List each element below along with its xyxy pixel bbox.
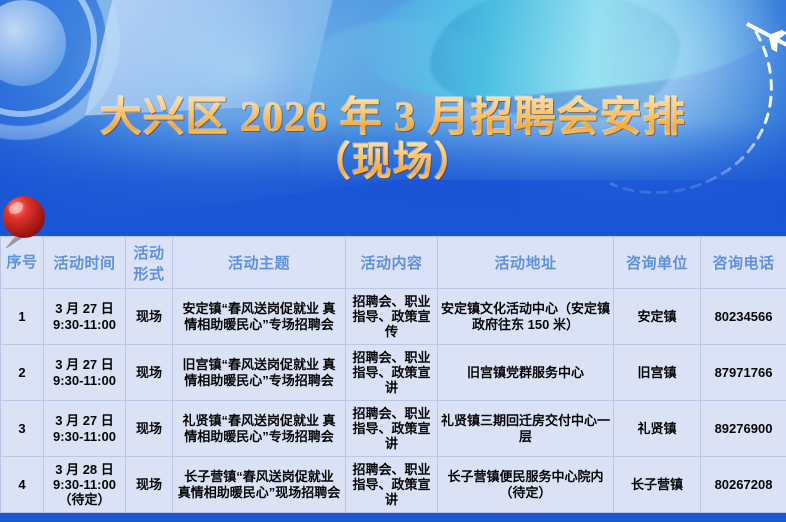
cell-form: 现场 [126,289,173,345]
column-header-theme: 活动主题 [173,237,346,289]
column-header-telephone: 咨询电话 [701,237,786,289]
cell-theme: 礼贤镇“春风送岗促就业 真情相助暖民心”专场招聘会 [173,401,346,457]
cell-address: 礼贤镇三期回迁房交付中心一层 [438,401,614,457]
cell-theme: 安定镇“春风送岗促就业 真情相助暖民心”专场招聘会 [173,289,346,345]
cell-telephone: 80234566 [701,289,786,345]
cell-telephone: 87971766 [701,345,786,401]
cell-index: 2 [1,345,44,401]
cell-unit: 安定镇 [614,289,701,345]
cell-time: 3 月 28 日 9:30-11:00 （待定） [44,457,126,513]
background-fade [0,120,786,236]
table-row: 4 3 月 28 日 9:30-11:00 （待定） 现场 长子营镇“春风送岗促… [1,457,786,513]
table-header-row: 序号 活动时间 活动形式 活动主题 活动内容 活动地址 咨询单位 咨询电话 [1,237,786,289]
cell-index: 1 [1,289,44,345]
poster-banner [0,0,786,236]
airplane-icon [742,14,786,60]
cell-content: 招聘会、职业指导、政策宣传 [346,289,438,345]
cell-form: 现场 [126,345,173,401]
cell-form: 现场 [126,401,173,457]
cell-address: 安定镇文化活动中心（安定镇政府往东 150 米） [438,289,614,345]
column-header-form: 活动形式 [126,237,173,289]
cell-index: 3 [1,401,44,457]
cell-content: 招聘会、职业指导、政策宣讲 [346,401,438,457]
column-header-time: 活动时间 [44,237,126,289]
cell-address: 长子营镇便民服务中心院内（待定） [438,457,614,513]
table-row: 3 3 月 27 日 9:30-11:00 现场 礼贤镇“春风送岗促就业 真情相… [1,401,786,457]
cell-time: 3 月 27 日 9:30-11:00 [44,401,126,457]
recruitment-schedule-table: 序号 活动时间 活动形式 活动主题 活动内容 活动地址 咨询单位 咨询电话 1 … [0,236,786,513]
cell-address: 旧宫镇党群服务中心 [438,345,614,401]
column-header-unit: 咨询单位 [614,237,701,289]
table-row: 1 3 月 27 日 9:30-11:00 现场 安定镇“春风送岗促就业 真情相… [1,289,786,345]
cell-theme: 旧宫镇“春风送岗促就业 真情相助暖民心”专场招聘会 [173,345,346,401]
cell-form: 现场 [126,457,173,513]
cell-unit: 礼贤镇 [614,401,701,457]
cell-time: 3 月 27 日 9:30-11:00 [44,345,126,401]
cell-unit: 长子营镇 [614,457,701,513]
cell-content: 招聘会、职业指导、政策宣讲 [346,457,438,513]
red-pushpin-icon [0,192,50,248]
cell-time: 3 月 27 日 9:30-11:00 [44,289,126,345]
cell-index: 4 [1,457,44,513]
table-header: 序号 活动时间 活动形式 活动主题 活动内容 活动地址 咨询单位 咨询电话 [1,237,786,289]
cell-content: 招聘会、职业指导、政策宣讲 [346,345,438,401]
cell-telephone: 89276900 [701,401,786,457]
table-body: 1 3 月 27 日 9:30-11:00 现场 安定镇“春风送岗促就业 真情相… [1,289,786,513]
column-header-address: 活动地址 [438,237,614,289]
table-row: 2 3 月 27 日 9:30-11:00 现场 旧宫镇“春风送岗促就业 真情相… [1,345,786,401]
cell-telephone: 80267208 [701,457,786,513]
column-header-content: 活动内容 [346,237,438,289]
cell-theme: 长子营镇“春风送岗促就业 真情相助暖民心”现场招聘会 [173,457,346,513]
cell-unit: 旧宫镇 [614,345,701,401]
column-header-index-label: 序号 [4,255,40,271]
